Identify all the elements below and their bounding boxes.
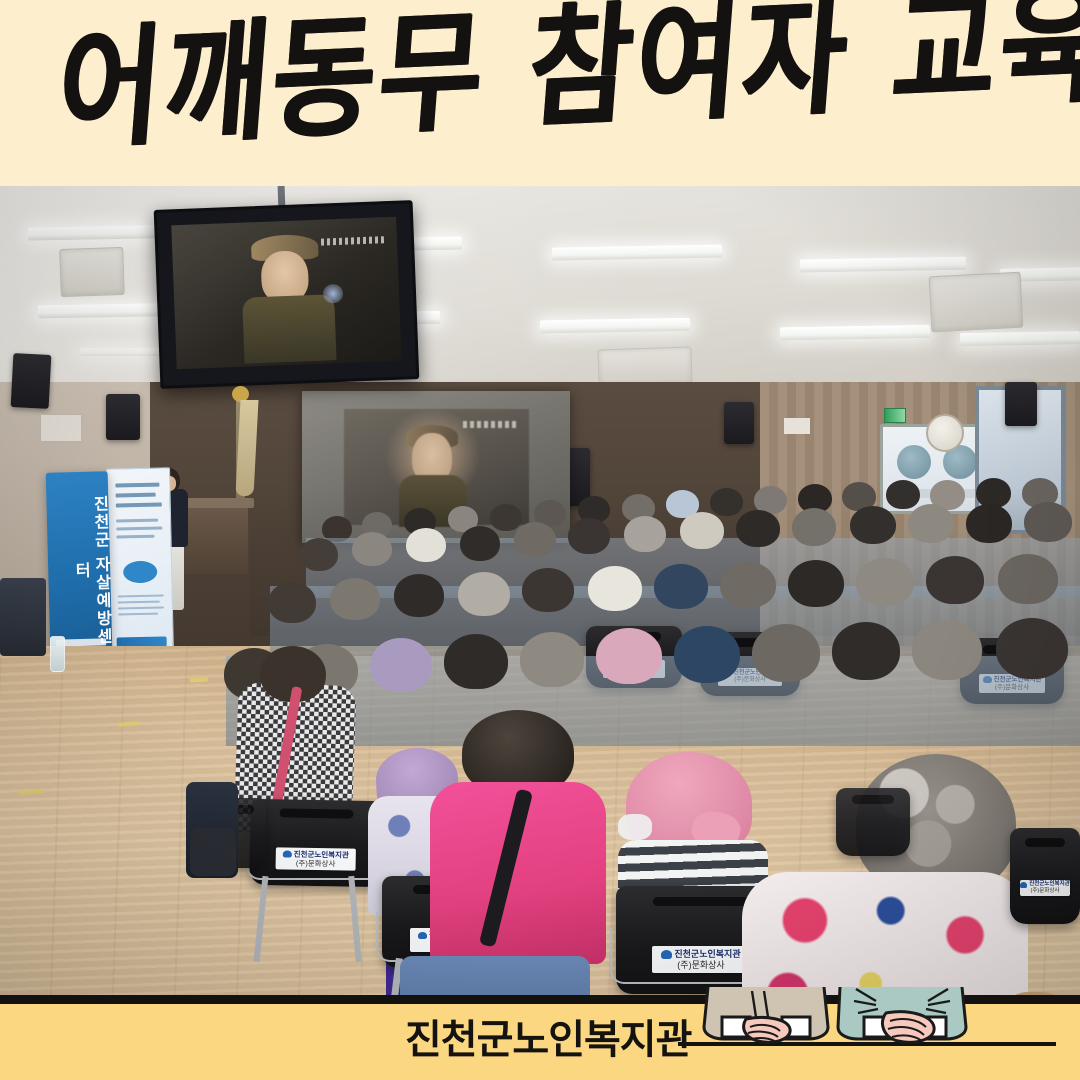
chair	[836, 788, 910, 856]
audience-head	[886, 480, 920, 509]
speaker-icon	[1005, 382, 1037, 426]
audience-head	[394, 574, 444, 617]
audience-head	[908, 504, 954, 543]
audience-head	[460, 526, 500, 561]
figure-right	[838, 987, 966, 1042]
tv-monitor	[154, 200, 420, 389]
audience-head	[444, 634, 508, 689]
chair: 진천군노인복지관 (주)문화상사	[1010, 828, 1080, 924]
ceiling-light	[780, 325, 930, 341]
tv-caption-text	[320, 236, 383, 246]
wall-switch-icon	[784, 418, 810, 434]
seated-figures-illustration	[690, 987, 1040, 1059]
audience-head	[792, 508, 836, 546]
figure-left	[704, 987, 828, 1042]
audience-head	[352, 532, 392, 566]
page-title: 어깨동무 참여자 교육	[51, 0, 1043, 178]
audience-hat	[680, 512, 724, 549]
projected-caption	[463, 421, 519, 428]
banner-text: 진천군 자살예방센터	[46, 471, 113, 653]
audience-head	[710, 488, 743, 516]
audience-head	[720, 562, 776, 608]
audience-hat	[370, 638, 432, 692]
audience-hat	[588, 566, 642, 611]
tv-bokeh	[322, 284, 343, 303]
tv-coat	[242, 294, 337, 364]
audience-person-floral	[742, 872, 1028, 995]
audience-head	[832, 622, 900, 680]
audience-head	[912, 620, 982, 680]
ceiling-light	[540, 318, 690, 334]
suicide-prevention-center-banner: 진천군 자살예방센터	[46, 471, 113, 653]
audience-head	[788, 560, 844, 607]
audience-head	[520, 632, 584, 687]
audience-head	[1024, 502, 1072, 542]
ceiling-vent	[59, 247, 125, 297]
banner-badge	[123, 561, 157, 584]
audience-head	[856, 558, 914, 606]
audience-head	[522, 568, 574, 612]
audience-head	[330, 578, 380, 620]
audience-head	[300, 538, 338, 571]
audience-head	[966, 504, 1012, 543]
audience-hat	[596, 628, 662, 684]
exit-sign-icon	[884, 408, 906, 423]
speaker-icon	[11, 353, 52, 409]
stacked-chairs	[0, 578, 46, 656]
speaker-icon	[106, 394, 140, 440]
info-banner-white	[106, 467, 174, 656]
audience-head	[514, 522, 556, 557]
audience-head	[736, 510, 780, 547]
wall-notice	[40, 414, 82, 442]
speaker-icon	[724, 402, 754, 444]
audience-jeans	[400, 956, 590, 995]
header-band: 어깨동무 참여자 교육	[0, 0, 1080, 186]
wall-clock-icon	[926, 414, 964, 452]
organization-name: 진천군노인복지관	[405, 1016, 691, 1064]
audience-head	[752, 624, 820, 682]
audience-head	[850, 506, 896, 544]
event-photo: 진천군 자살예방센터	[0, 186, 1080, 995]
audience-head	[568, 518, 610, 554]
audience-cap	[654, 564, 708, 609]
face-mask-icon	[618, 814, 652, 840]
audience-head	[490, 504, 522, 531]
audience-head	[268, 582, 316, 623]
poster-root: 어깨동무 참여자 교육	[0, 0, 1080, 1080]
audience-head	[998, 554, 1058, 604]
audience-head	[926, 556, 984, 604]
audience-cap	[674, 626, 740, 683]
chair-label: 진천군노인복지관 (주)문화상사	[1020, 880, 1070, 896]
ceiling-vent	[929, 272, 1024, 333]
audience-head	[996, 618, 1068, 679]
tv-screen	[171, 217, 401, 370]
bag	[190, 828, 236, 876]
ceiling-light	[960, 331, 1080, 346]
audience-hat	[406, 528, 446, 562]
audience-head	[458, 572, 510, 616]
audience-head	[624, 516, 666, 552]
water-bottle	[50, 636, 65, 672]
